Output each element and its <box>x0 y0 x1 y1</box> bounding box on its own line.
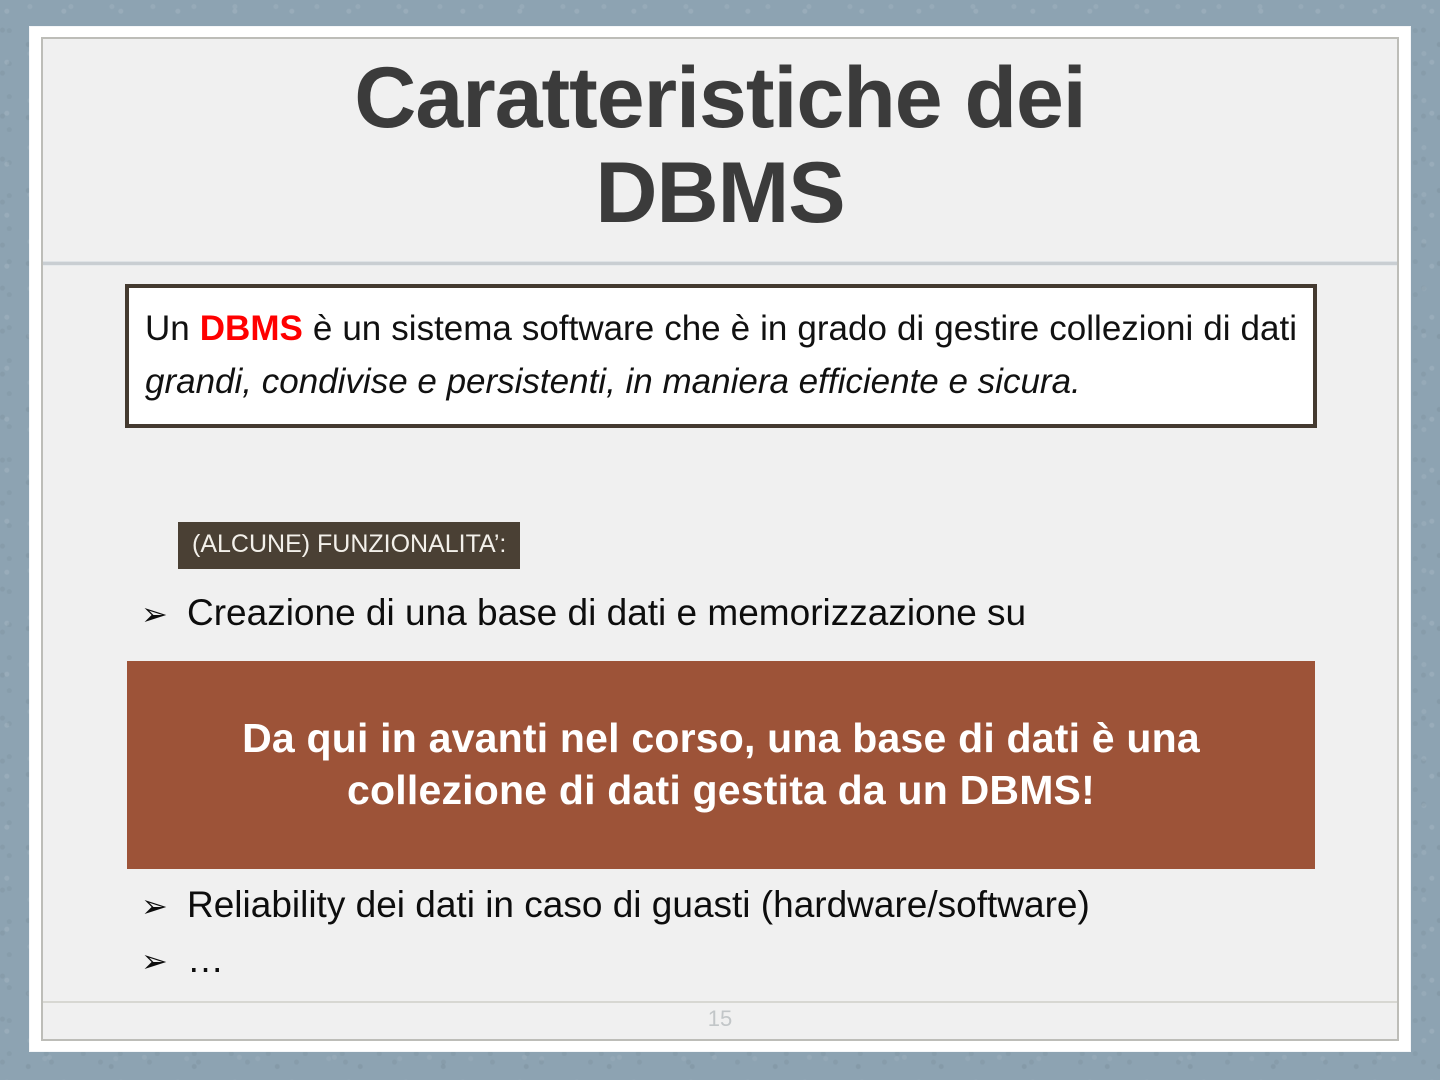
bullet-item-creazione: ➢ Creazione di una base di dati e memori… <box>141 592 1026 633</box>
bullet-label: … <box>187 939 224 980</box>
page-title: Caratteristiche dei DBMS <box>83 51 1357 240</box>
definition-emphasis: grandi, condivise e persistenti, in mani… <box>145 362 1081 401</box>
title-divider <box>43 261 1397 266</box>
title-block: Caratteristiche dei DBMS <box>43 39 1397 281</box>
arrow-bullet-icon: ➢ <box>141 944 187 980</box>
footer-divider <box>43 1001 1397 1003</box>
bullet-item-ellipsis: ➢ … <box>141 939 224 980</box>
highlight-callout-box: Da qui in avanti nel corso, una base di … <box>127 661 1315 869</box>
bullet-item-reliability: ➢ Reliability dei dati in caso di guasti… <box>141 884 1090 925</box>
functions-badge: (ALCUNE) FUNZIONALITA’: <box>178 522 520 569</box>
bullet-label: Creazione di una base di dati e memorizz… <box>187 592 1026 633</box>
slide-canvas: Caratteristiche dei DBMS Un DBMS è un si… <box>0 0 1440 1080</box>
definition-body: è un sistema software che è in grado di … <box>303 309 1297 348</box>
definition-box: Un DBMS è un sistema software che è in g… <box>125 284 1317 428</box>
arrow-bullet-icon: ➢ <box>141 889 187 925</box>
slide-inner-frame: Caratteristiche dei DBMS Un DBMS è un si… <box>41 37 1399 1041</box>
page-number: 15 <box>43 1005 1397 1033</box>
slide-page: Caratteristiche dei DBMS Un DBMS è un si… <box>30 27 1410 1051</box>
arrow-bullet-icon: ➢ <box>141 597 187 633</box>
definition-lead: Un <box>145 309 200 348</box>
highlight-callout-text: Da qui in avanti nel corso, una base di … <box>145 713 1297 816</box>
definition-text: Un DBMS è un sistema software che è in g… <box>145 302 1297 408</box>
bullet-label: Reliability dei dati in caso di guasti (… <box>187 884 1090 925</box>
definition-keyword: DBMS <box>200 309 303 348</box>
